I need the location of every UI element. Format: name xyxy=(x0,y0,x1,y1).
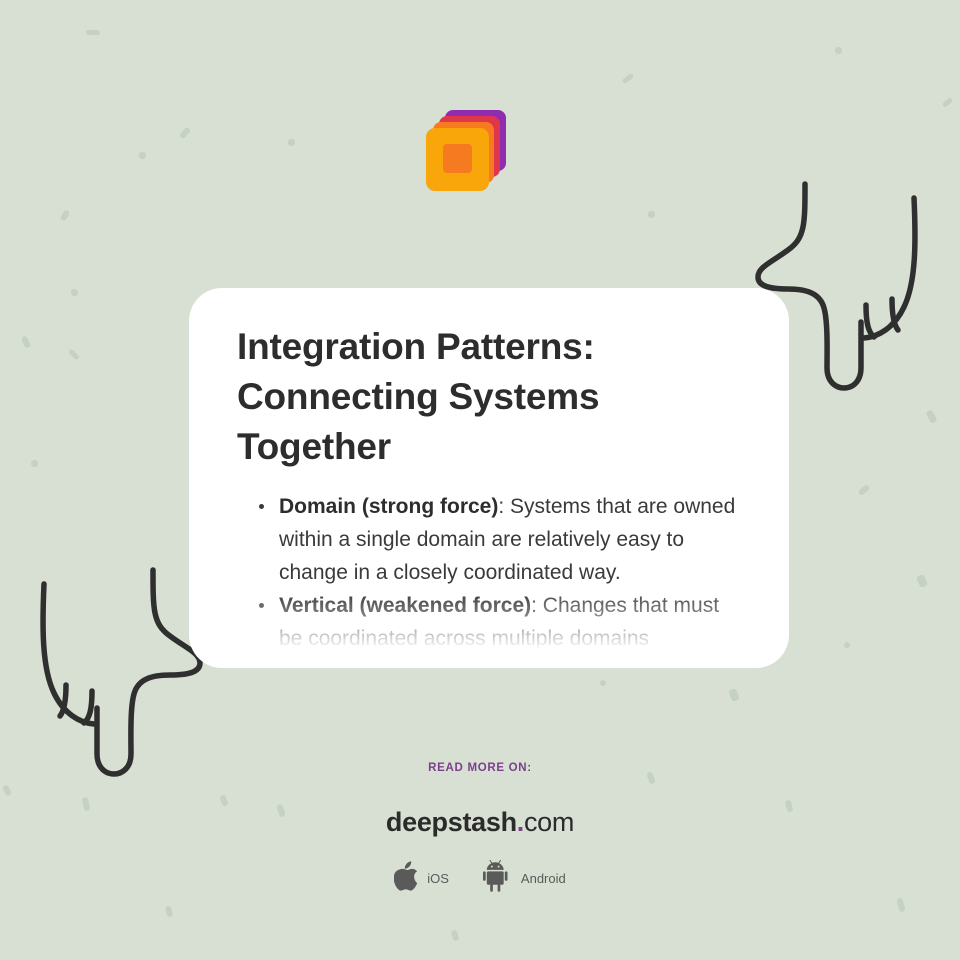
deepstash-wordmark[interactable]: deepstash.com xyxy=(0,807,960,838)
confetti-mark xyxy=(31,460,38,467)
footer: READ MORE ON: deepstash.com iOS xyxy=(0,762,960,897)
confetti-mark xyxy=(21,335,32,348)
idea-bullet-list: Domain (strong force): Systems that are … xyxy=(237,490,745,655)
confetti-mark xyxy=(834,46,843,55)
confetti-mark xyxy=(68,348,80,360)
ios-store-badge[interactable]: iOS xyxy=(394,861,449,896)
wordmark-dot: . xyxy=(517,807,524,837)
confetti-mark xyxy=(728,688,740,702)
confetti-mark xyxy=(164,905,173,917)
android-icon xyxy=(483,860,513,897)
android-label: Android xyxy=(521,871,566,886)
deepstash-logo xyxy=(425,100,517,197)
apple-icon xyxy=(394,861,419,896)
ios-label: iOS xyxy=(427,871,449,886)
wordmark-tld: com xyxy=(524,807,574,837)
confetti-mark xyxy=(942,97,954,108)
list-item: Domain (strong force): Systems that are … xyxy=(259,490,745,589)
confetti-mark xyxy=(622,73,635,84)
idea-card: Integration Patterns: Connecting Systems… xyxy=(189,288,789,668)
confetti-mark xyxy=(844,642,850,648)
confetti-mark xyxy=(857,484,870,496)
android-store-badge[interactable]: Android xyxy=(483,860,566,897)
confetti-mark xyxy=(450,929,459,941)
confetti-mark xyxy=(647,210,655,218)
bullet-lead: Domain (strong force) xyxy=(279,495,498,518)
confetti-mark xyxy=(600,680,606,686)
wordmark-name: deepstash xyxy=(386,807,517,837)
poster-canvas: Integration Patterns: Connecting Systems… xyxy=(0,0,960,960)
confetti-mark xyxy=(60,209,71,222)
confetti-mark xyxy=(138,151,147,160)
idea-card-content: Integration Patterns: Connecting Systems… xyxy=(189,288,789,655)
confetti-mark xyxy=(916,574,928,588)
confetti-mark xyxy=(896,897,905,912)
confetti-mark xyxy=(71,289,78,296)
confetti-mark xyxy=(86,30,100,35)
confetti-mark xyxy=(925,409,937,424)
list-item: Vertical (weakened force): Changes that … xyxy=(259,589,745,655)
pointing-hand-doodle-bottom-left xyxy=(14,556,214,786)
page-title: Integration Patterns: Connecting Systems… xyxy=(237,322,745,472)
confetti-mark xyxy=(288,139,295,146)
app-store-row: iOS xyxy=(0,860,960,897)
bullet-lead: Vertical (weakened force) xyxy=(279,594,531,617)
confetti-mark xyxy=(179,127,191,140)
read-more-label: READ MORE ON: xyxy=(0,762,960,774)
